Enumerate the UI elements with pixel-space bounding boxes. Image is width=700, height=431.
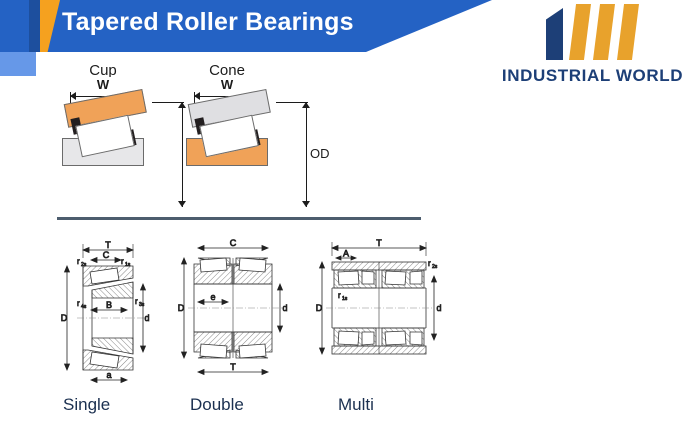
svg-text:A: A	[343, 249, 349, 259]
single-bearing-drawing: T C B D d	[55, 228, 175, 388]
slide-canvas: Tapered Roller Bearings INDUSTRIAL WORLD…	[0, 0, 700, 431]
svg-text:2s: 2s	[81, 262, 87, 268]
svg-text:r: r	[338, 291, 341, 300]
svg-text:4s: 4s	[81, 304, 87, 310]
svg-text:D: D	[61, 313, 68, 323]
svg-text:D: D	[316, 303, 323, 313]
logo-wordmark: INDUSTRIAL WORLD	[490, 66, 695, 86]
multi-row-bearing-diagram: T A D d r2s r1s Mu	[312, 228, 447, 423]
svg-text:d: d	[436, 303, 441, 313]
section-divider	[57, 217, 421, 220]
svg-text:C: C	[230, 238, 237, 248]
multi-caption: Multi	[312, 395, 473, 415]
company-logo: INDUSTRIAL WORLD	[490, 4, 695, 90]
svg-text:d: d	[282, 303, 287, 313]
page-title: Tapered Roller Bearings	[62, 8, 354, 37]
logo-mark-iw-icon	[536, 4, 648, 60]
cone-bearing-illustration	[186, 104, 276, 164]
cup-width-label: W	[70, 77, 136, 92]
cone-od-dimension: OD	[290, 102, 324, 207]
single-caption: Single	[55, 395, 183, 415]
logo-letter-w-icon	[569, 4, 645, 60]
svg-text:B: B	[106, 300, 112, 310]
svg-text:a: a	[106, 370, 111, 380]
double-caption: Double	[172, 395, 315, 415]
svg-text:e: e	[210, 292, 215, 302]
svg-text:2s: 2s	[432, 264, 438, 270]
svg-text:r: r	[121, 257, 124, 266]
svg-text:1s: 1s	[342, 296, 348, 302]
cone-diagram: Cone W OD	[172, 62, 347, 207]
logo-letter-i-icon	[546, 8, 563, 60]
cone-od-label: OD	[310, 146, 330, 161]
cup-bearing-illustration	[62, 104, 152, 164]
svg-text:T: T	[105, 240, 111, 250]
svg-text:C: C	[103, 250, 110, 260]
svg-text:T: T	[376, 238, 382, 248]
svg-text:r: r	[77, 257, 80, 266]
svg-text:r: r	[135, 297, 138, 306]
multi-bearing-drawing: T A D d r2s r1s	[312, 228, 447, 388]
double-bearing-drawing: C e D d T	[172, 228, 297, 388]
svg-text:1s: 1s	[125, 262, 131, 268]
svg-text:r: r	[428, 259, 431, 268]
svg-text:r: r	[77, 299, 80, 308]
svg-text:T: T	[230, 362, 236, 372]
svg-text:3s: 3s	[139, 302, 145, 308]
svg-text:D: D	[178, 303, 185, 313]
single-row-bearing-diagram: T C B D d	[55, 228, 175, 423]
double-row-bearing-diagram: C e D d T	[172, 228, 297, 423]
top-diagram-group: Cup W OD Cone	[0, 62, 430, 207]
cone-width-label: W	[194, 77, 260, 92]
svg-text:d: d	[144, 313, 149, 323]
bottom-diagram-group: T C B D d	[0, 228, 470, 423]
